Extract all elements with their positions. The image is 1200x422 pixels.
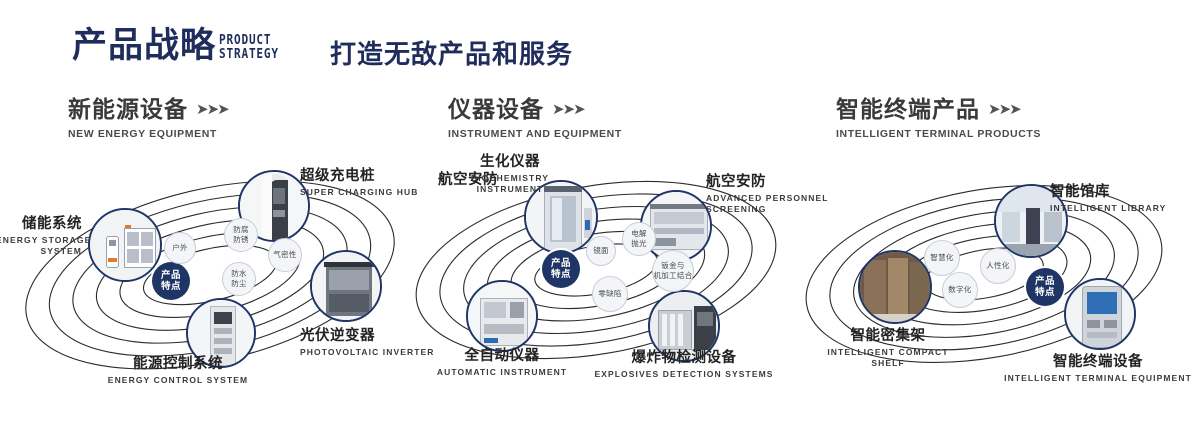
core-line1: 产品 bbox=[1035, 276, 1055, 287]
label-explosives-detection-systems: 爆炸物检测设备 EXPLOSIVES DETECTION SYSTEMS bbox=[582, 350, 786, 380]
intelligent-compact-shelf-photo bbox=[860, 252, 930, 322]
core-line2: 特点 bbox=[1035, 287, 1055, 298]
section-heading-en: NEW ENERGY EQUIPMENT bbox=[68, 128, 228, 140]
page-subtitle: 打造无敌产品和服务 bbox=[330, 34, 573, 71]
label-intelligent-terminal-equipment: 智能终端设备 INTELLIGENT TERMINAL EQUIPMENT bbox=[996, 354, 1200, 384]
label-cn: 智能密集架 bbox=[788, 328, 988, 345]
diagram-new-energy: 储能系统 ENERGY STORAGESYSTEM 超级充电桩 SUPER CH… bbox=[0, 150, 420, 410]
label-en: INTELLIGENT LIBRARY bbox=[1050, 203, 1166, 214]
label-intelligent-compact-shelf: 智能密集架 INTELLIGENT COMPACTSHELF bbox=[788, 328, 988, 369]
core-line2: 特点 bbox=[551, 269, 571, 280]
core-line1: 产品 bbox=[161, 270, 181, 281]
page-title-english-line2: STRATEGY bbox=[219, 47, 279, 61]
feature-sheet-metal-machining: 钣金与机加工结合 bbox=[652, 250, 694, 292]
energy-storage-system-photo bbox=[90, 210, 160, 280]
section-heading-intelligent-terminal: 智能终端产品➤➤➤ INTELLIGENT TERMINAL PRODUCTS bbox=[836, 96, 1041, 140]
node-intelligent-compact-shelf[interactable] bbox=[858, 250, 932, 324]
page-title-english-line1: PRODUCT bbox=[219, 33, 279, 47]
label-cn: 能源控制系统 bbox=[78, 356, 278, 373]
label-intelligent-library: 智能馆库 INTELLIGENT LIBRARY bbox=[1050, 184, 1166, 214]
label-cn: 生化仪器 bbox=[448, 154, 572, 171]
chevron-right-icon: ➤➤➤ bbox=[552, 97, 584, 123]
label-biochemistry-instrument: 生化仪器 BIOCHEMISTRYINSTRUMENT bbox=[448, 154, 572, 195]
header: 产品战略 PRODUCT STRATEGY 打造无敌产品和服务 bbox=[0, 0, 1200, 88]
feature-mirror-surface: 镜面 bbox=[586, 236, 616, 266]
section-heading-cn-text: 新能源设备 bbox=[68, 96, 188, 122]
feature-airtightness: 气密性 bbox=[268, 238, 302, 272]
core-line2: 特点 bbox=[161, 281, 181, 292]
label-energy-storage-system: 储能系统 ENERGY STORAGESYSTEM bbox=[0, 216, 82, 257]
label-en: BIOCHEMISTRYINSTRUMENT bbox=[448, 173, 572, 195]
section-heading-cn-text: 仪器设备 bbox=[448, 96, 544, 122]
feature-waterproof-dustproof: 防水防尘 bbox=[222, 262, 256, 296]
infographic-page: 产品战略 PRODUCT STRATEGY 打造无敌产品和服务 新能源设备➤➤➤… bbox=[0, 0, 1200, 422]
label-en: INTELLIGENT COMPACTSHELF bbox=[788, 347, 988, 369]
section-heading-cn: 智能终端产品➤➤➤ bbox=[836, 96, 1041, 123]
feature-core-product-characteristics: 产品 特点 bbox=[1026, 268, 1064, 306]
section-heading-cn: 仪器设备➤➤➤ bbox=[448, 96, 622, 123]
feature-humanized: 人性化 bbox=[980, 248, 1016, 284]
label-automatic-instrument: 全自动仪器 AUTOMATIC INSTRUMENT bbox=[412, 348, 592, 378]
feature-core-product-characteristics: 产品 特点 bbox=[542, 250, 580, 288]
label-cn: 储能系统 bbox=[0, 216, 82, 233]
diagram-intelligent-terminal: 智能馆库 INTELLIGENT LIBRARY 智能密集架 INTELLIGE… bbox=[800, 150, 1200, 410]
automatic-instrument-photo bbox=[468, 282, 536, 350]
photovoltaic-inverter-photo bbox=[312, 252, 380, 320]
section-heading-cn: 新能源设备➤➤➤ bbox=[68, 96, 228, 123]
node-photovoltaic-inverter[interactable] bbox=[310, 250, 382, 322]
section-heading-cn-text: 智能终端产品 bbox=[836, 96, 980, 122]
node-intelligent-terminal-equipment[interactable] bbox=[1064, 278, 1136, 350]
feature-core-product-characteristics: 产品 特点 bbox=[152, 262, 190, 300]
label-en: EXPLOSIVES DETECTION SYSTEMS bbox=[582, 369, 786, 380]
section-heading-instrument: 仪器设备➤➤➤ INSTRUMENT AND EQUIPMENT bbox=[448, 96, 622, 140]
feature-digitized: 数字化 bbox=[942, 272, 978, 308]
label-cn: 全自动仪器 bbox=[412, 348, 592, 365]
section-heading-new-energy: 新能源设备➤➤➤ NEW ENERGY EQUIPMENT bbox=[68, 96, 228, 140]
feature-outdoor: 户外 bbox=[164, 232, 196, 264]
page-title: 产品战略 bbox=[72, 28, 216, 63]
label-en: ENERGY CONTROL SYSTEM bbox=[78, 375, 278, 386]
feature-zero-defect: 零缺陷 bbox=[592, 276, 628, 312]
label-en: INTELLIGENT TERMINAL EQUIPMENT bbox=[996, 373, 1200, 384]
diagram-instrument: 航空安防 生化仪器 BIOCHEMISTRYINSTRUMENT 航空安防 AD… bbox=[400, 150, 800, 410]
intelligent-terminal-equipment-photo bbox=[1066, 280, 1134, 348]
label-energy-control-system: 能源控制系统 ENERGY CONTROL SYSTEM bbox=[78, 356, 278, 386]
label-cn: 智能馆库 bbox=[1050, 184, 1166, 201]
feature-electrolytic-polishing: 电解抛光 bbox=[622, 222, 656, 256]
label-en: ENERGY STORAGESYSTEM bbox=[0, 235, 82, 257]
feature-intelligent: 智慧化 bbox=[924, 240, 960, 276]
section-heading-en: INSTRUMENT AND EQUIPMENT bbox=[448, 128, 622, 140]
label-en: AUTOMATIC INSTRUMENT bbox=[412, 367, 592, 378]
core-line1: 产品 bbox=[551, 258, 571, 269]
label-cn: 爆炸物检测设备 bbox=[582, 350, 786, 367]
chevron-right-icon: ➤➤➤ bbox=[196, 97, 228, 123]
page-title-english: PRODUCT STRATEGY bbox=[219, 33, 279, 61]
node-automatic-instrument[interactable] bbox=[466, 280, 538, 352]
node-energy-storage-system[interactable] bbox=[88, 208, 162, 282]
label-cn: 智能终端设备 bbox=[996, 354, 1200, 371]
section-heading-en: INTELLIGENT TERMINAL PRODUCTS bbox=[836, 128, 1041, 140]
feature-anti-corrosion: 防腐防锈 bbox=[224, 218, 258, 252]
chevron-right-icon: ➤➤➤ bbox=[988, 97, 1020, 123]
